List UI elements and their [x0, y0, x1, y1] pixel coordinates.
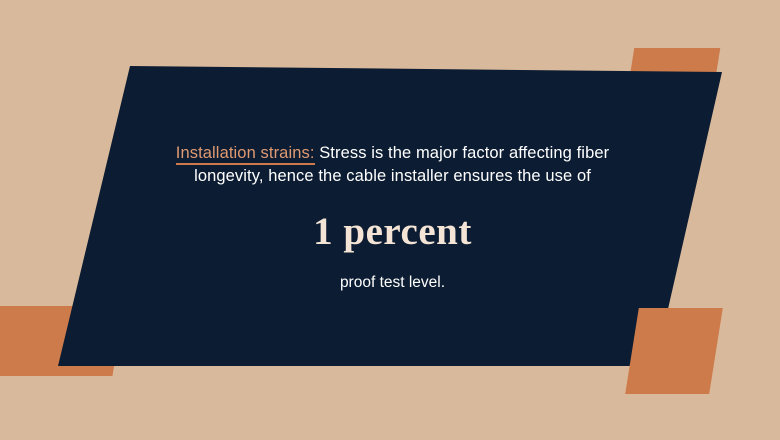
highlight-term: Installation strains:	[176, 144, 315, 165]
body-line-1: Installation strains: Stress is the majo…	[120, 142, 665, 165]
body-line-1-rest: Stress is the major factor affecting fib…	[315, 144, 610, 162]
closing-line: proof test level.	[120, 272, 665, 294]
accent-parallelogram-bottom-right	[625, 308, 723, 394]
text-block: Installation strains: Stress is the majo…	[120, 142, 665, 294]
headline-value: 1 percent	[120, 209, 665, 255]
body-line-2: longevity, hence the cable installer ens…	[120, 165, 665, 188]
slide-canvas: Installation strains: Stress is the majo…	[0, 0, 780, 440]
